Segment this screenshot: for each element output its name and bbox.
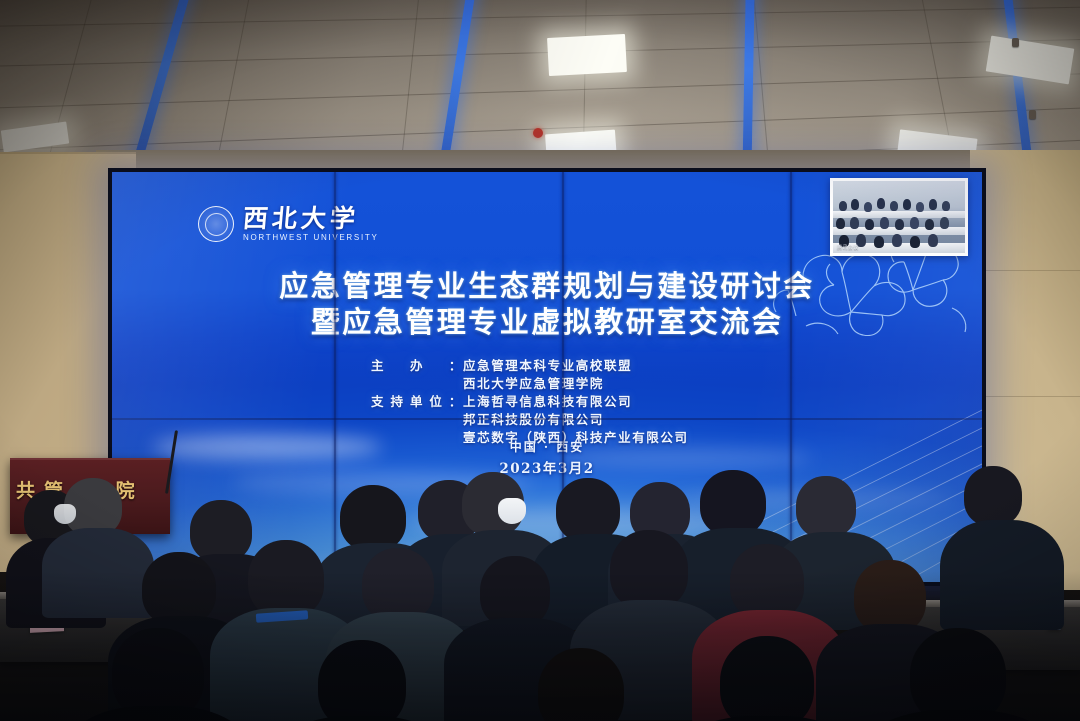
conference-room-photo: 西北大学 NORTHWEST UNIVERSITY (0, 0, 1080, 721)
panel-seam (334, 172, 336, 582)
face-mask-icon (498, 498, 526, 524)
panel-seam (790, 172, 792, 582)
panel-seam (112, 418, 982, 420)
